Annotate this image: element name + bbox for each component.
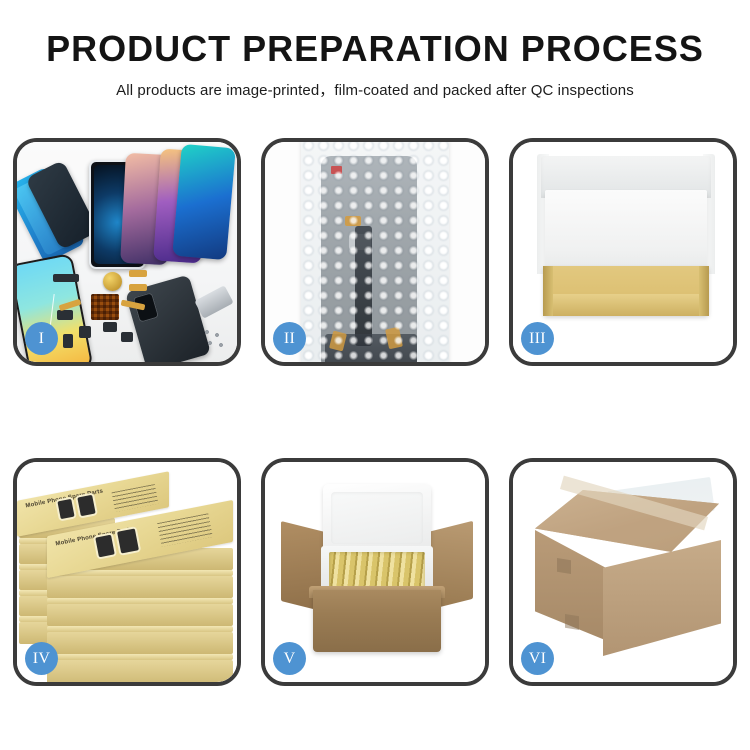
header: PRODUCT PREPARATION PROCESS All products…: [0, 0, 750, 100]
step-badge-6: VI: [521, 642, 554, 675]
step-badge-1: I: [25, 322, 58, 355]
step-panel-1: I: [13, 138, 241, 366]
product-preparation-infographic: PRODUCT PREPARATION PROCESS All products…: [0, 0, 750, 750]
step-panel-4: Mobile Phone Spare Parts Mobile Phone Sp…: [13, 458, 241, 686]
step-badge-2: II: [273, 322, 306, 355]
step-panel-2: II: [261, 138, 489, 366]
step-badge-3: III: [521, 322, 554, 355]
step-panel-5: V: [261, 458, 489, 686]
page-title: PRODUCT PREPARATION PROCESS: [0, 30, 750, 68]
process-steps-grid: I II: [13, 138, 737, 686]
step-panel-3: III: [509, 138, 737, 366]
page-subtitle: All products are image-printed，film-coat…: [0, 79, 750, 100]
step-badge-5: V: [273, 642, 306, 675]
step-badge-4: IV: [25, 642, 58, 675]
step-panel-6: VI: [509, 458, 737, 686]
